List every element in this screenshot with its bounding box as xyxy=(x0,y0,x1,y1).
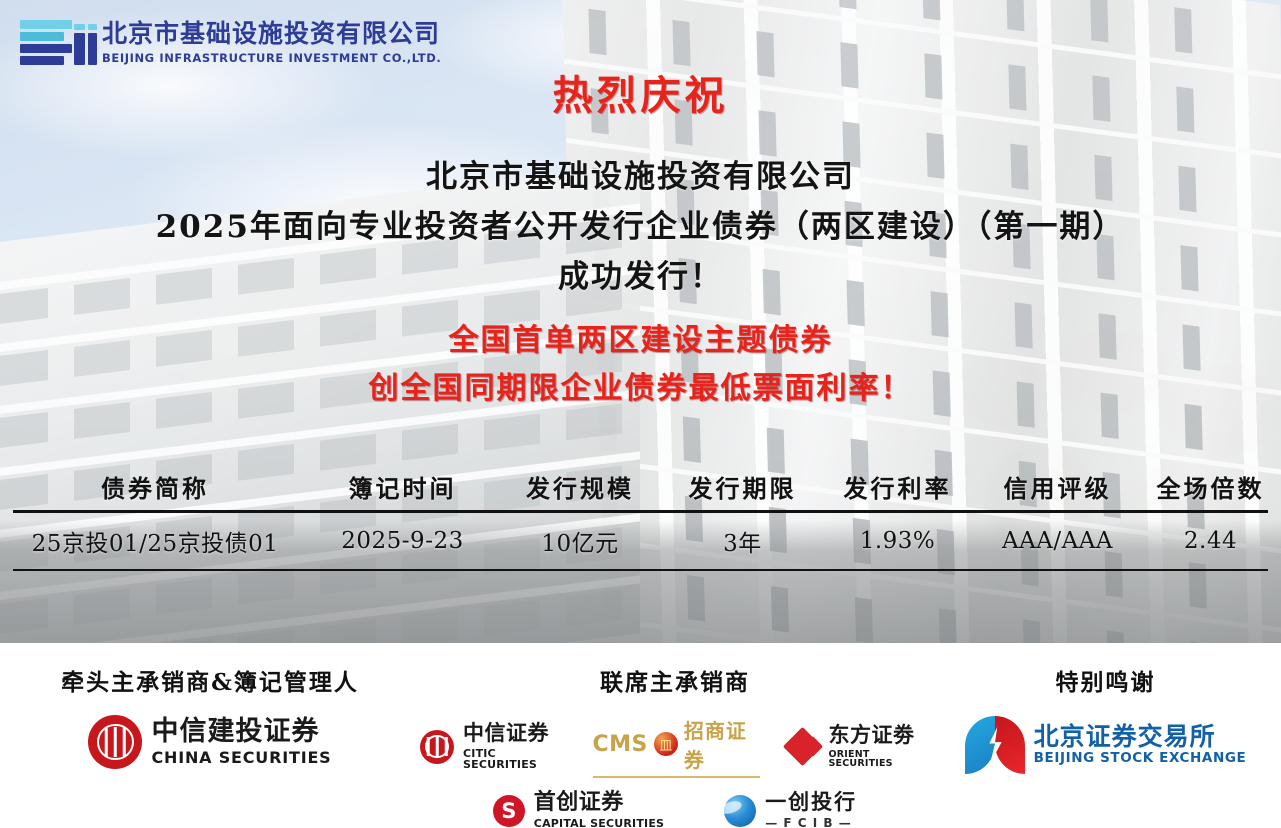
table-header-row: 债券简称 簿记时间 发行规模 发行期限 发行利率 信用评级 全场倍数 xyxy=(0,462,1281,510)
brand-name-cn: 中信证券 xyxy=(463,723,567,744)
highlight-line-1: 全国首单两区建设主题债券 xyxy=(0,317,1281,366)
table-row: 25京投01/25京投债01 2025-9-23 10亿元 3年 1.93% A… xyxy=(0,513,1281,569)
table-header-cell: 全场倍数 xyxy=(1140,469,1281,504)
table-header-cell: 发行利率 xyxy=(820,469,975,504)
brand-name-cn: 首创证券 xyxy=(534,792,664,814)
table-cell-book-date: 2025-9-23 xyxy=(310,528,495,554)
table-header-cell: 债券简称 xyxy=(0,469,310,504)
citic-ring-icon xyxy=(420,730,454,764)
cms-seal-icon xyxy=(654,732,678,756)
citic-ring-icon xyxy=(88,715,142,769)
footer-title-lead: 牵头主承销商&簿记管理人 xyxy=(61,663,359,697)
bse-flash-icon xyxy=(965,715,1025,775)
brand-name-en: CITIC SECURITIES xyxy=(463,748,567,770)
brand-fcib: 一创投行 — F C I B — xyxy=(724,792,857,828)
orient-diamond-icon xyxy=(786,730,820,764)
brand-cms-securities: CMS 招商证券 xyxy=(593,715,760,778)
footer-section-lead: 牵头主承销商&簿记管理人 中信建投证券 CHINA SECURITIES xyxy=(0,643,420,828)
company-logo: 北京市基础设施投资有限公司 BEIJING INFRASTRUCTURE INV… xyxy=(20,20,441,66)
celebrate-title: 热烈庆祝 xyxy=(0,74,1281,118)
brand-name-en: CHINA SECURITIES xyxy=(151,750,331,766)
brand-name-en: ORIENT SECURITIES xyxy=(829,750,931,769)
capital-s-icon xyxy=(493,795,525,827)
poster-root: 北京市基础设施投资有限公司 BEIJING INFRASTRUCTURE INV… xyxy=(0,0,1281,828)
brand-name-cn: 东方证劵 xyxy=(829,725,931,746)
company-name-en: BEIJING INFRASTRUCTURE INVESTMENT CO.,LT… xyxy=(102,51,441,65)
table-header-cell: 发行规模 xyxy=(495,469,665,504)
brand-name-en: CAPITAL SECURITIES xyxy=(534,818,664,828)
table-cell-size: 10亿元 xyxy=(495,524,665,558)
table-rule-bottom xyxy=(13,569,1268,571)
brand-orient-securities: 东方证劵 ORIENT SECURITIES xyxy=(786,725,931,769)
brand-capital-securities: 首创证券 CAPITAL SECURITIES xyxy=(493,792,664,828)
headline-line-2: 2025年面向专业投资者公开发行企业债券（两区建设）（第一期） xyxy=(0,202,1281,252)
footer-title-joint: 联席主承销商 xyxy=(600,663,750,697)
brand-name-en: BEIJING STOCK EXCHANGE xyxy=(1034,752,1247,766)
fcib-globe-icon xyxy=(724,795,756,827)
brand-name-cn: 招商证券 xyxy=(684,715,760,773)
logo-row: 中信建投证券 CHINA SECURITIES xyxy=(0,715,420,769)
highlight-line-2: 创全国同期限企业债券最低票面利率！ xyxy=(0,365,1281,414)
brand-china-securities: 中信建投证券 CHINA SECURITIES xyxy=(88,715,331,769)
footer-section-thanks: 特别鸣谢 北京证券交易所 BEIJING STOCK EXCHANGE xyxy=(930,643,1281,828)
company-name-cn: 北京市基础设施投资有限公司 xyxy=(102,21,441,47)
headline-block: 热烈庆祝 北京市基础设施投资有限公司 2025年面向专业投资者公开发行企业债券（… xyxy=(0,74,1281,414)
footer-bar: 牵头主承销商&簿记管理人 中信建投证券 CHINA SECURITIES 联席主… xyxy=(0,643,1281,828)
headline-line-3: 成功发行！ xyxy=(0,252,1281,302)
headline-line-1: 北京市基础设施投资有限公司 xyxy=(0,152,1281,202)
footer-title-thanks: 特别鸣谢 xyxy=(1056,663,1156,697)
brand-name-cn: 中信建投证券 xyxy=(151,718,331,745)
bond-table: 债券简称 簿记时间 发行规模 发行期限 发行利率 信用评级 全场倍数 25京投0… xyxy=(0,462,1281,571)
brand-beijing-stock-exchange: 北京证券交易所 BEIJING STOCK EXCHANGE xyxy=(965,715,1247,775)
table-cell-rating: AAA/AAA xyxy=(975,528,1140,554)
brand-name-en: — F C I B — xyxy=(765,817,857,828)
bii-logo-icon xyxy=(20,20,90,66)
logo-row: 中信证券 CITIC SECURITIES CMS 招商证券 东方证劵 xyxy=(420,715,930,778)
table-cell-rate: 1.93% xyxy=(820,528,975,554)
brand-citic-securities: 中信证券 CITIC SECURITIES xyxy=(420,723,567,770)
logo-row: 北京证券交易所 BEIJING STOCK EXCHANGE xyxy=(930,715,1281,775)
brand-name-cn: 北京证券交易所 xyxy=(1034,724,1247,749)
table-header-cell: 发行期限 xyxy=(665,469,820,504)
brand-name-cn: 一创投行 xyxy=(765,792,857,813)
table-cell-tenor: 3年 xyxy=(665,524,820,558)
table-cell-bond-name: 25京投01/25京投债01 xyxy=(0,524,310,558)
table-header-cell: 信用评级 xyxy=(975,469,1140,504)
logo-row: 首创证券 CAPITAL SECURITIES 一创投行 — F C I B — xyxy=(420,792,930,828)
table-header-cell: 簿记时间 xyxy=(310,469,495,504)
footer-section-joint: 联席主承销商 中信证券 CITIC SECURITIES CMS 招商证券 xyxy=(420,643,930,828)
table-cell-oversubscr: 2.44 xyxy=(1140,528,1281,554)
cms-wordmark: CMS xyxy=(593,732,648,757)
